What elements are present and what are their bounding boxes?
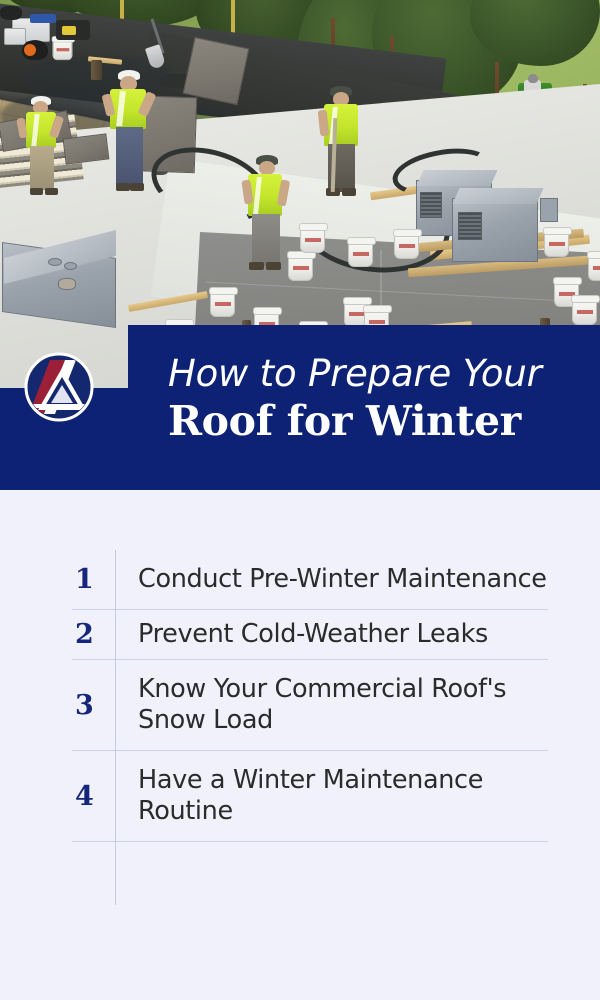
list-item-label: Know Your Commercial Roof's Snow Load [115,674,548,736]
bucket [348,238,373,267]
bucket [394,230,419,259]
company-logo [24,352,94,422]
pipe [91,60,102,80]
list-vertical-divider [115,550,116,905]
infographic-root: How to Prepare Your Roof for Winter 1 Co… [0,0,600,1000]
hvac-disconnect-box [540,198,558,222]
bucket [210,288,235,317]
equipment-accent [62,26,76,35]
page-title-line-1: How to Prepare Your [168,352,588,396]
list-item-number: 4 [72,783,115,810]
list-item-label: Have a Winter Maintenance Routine [115,765,548,827]
list-item-label: Conduct Pre-Winter Maintenance [115,564,548,595]
list-item-label: Prevent Cold-Weather Leaks [115,619,548,650]
bucket [544,228,569,257]
list-item-number: 1 [72,566,115,593]
equipment [0,6,22,20]
list-item: 4 Have a Winter Maintenance Routine [72,751,548,842]
cooler [4,28,26,45]
list-item: 1 Conduct Pre-Winter Maintenance [72,550,548,610]
bucket [572,296,597,325]
list-item: 2 Prevent Cold-Weather Leaks [72,610,548,660]
hvac-grill [420,192,442,218]
hvac-grill [458,212,482,240]
list-item-number: 2 [72,621,115,648]
hvac-port [64,262,77,270]
hvac-unit-top [452,188,543,204]
page-title-line-2: Roof for Winter [168,396,588,446]
bucket [288,252,313,281]
hvac-unit-top [416,170,497,186]
bucket [588,252,600,281]
hvac-port [48,258,62,266]
cooler-lid [30,14,56,23]
insulation-board [63,133,110,164]
numbered-list: 1 Conduct Pre-Winter Maintenance 2 Preve… [72,550,548,842]
hvac-port [58,278,76,290]
header-title: How to Prepare Your Roof for Winter [168,352,588,446]
bucket [53,37,73,60]
list-item-number: 3 [72,692,115,719]
insulation-board [183,37,250,105]
bucket [300,224,325,253]
list-item: 3 Know Your Commercial Roof's Snow Load [72,660,548,751]
blower-intake [24,44,36,56]
